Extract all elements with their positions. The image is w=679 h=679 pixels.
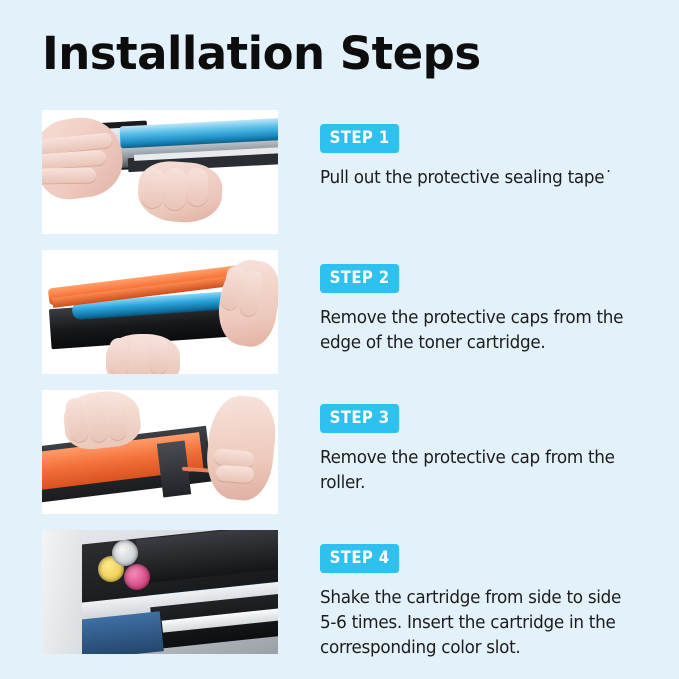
step-badge: STEP 1 (320, 124, 399, 153)
step-image-card (42, 110, 278, 234)
step-image-card (42, 250, 278, 374)
step-image-card (42, 390, 278, 514)
finger (42, 167, 96, 183)
step-text-column: STEP 4 Shake the cartridge from side to … (278, 530, 679, 661)
step-description: Remove the protective caps from the edge… (320, 306, 637, 356)
right-hand (203, 393, 278, 503)
step-badge: STEP 3 (320, 404, 399, 433)
step-badge: STEP 4 (320, 544, 399, 573)
step-text-column: STEP 1 Pull out the protective sealing t… (278, 110, 679, 191)
finger (215, 465, 254, 484)
step-4-photo (42, 530, 278, 654)
step-image-card (42, 530, 278, 654)
step-text-column: STEP 3 Remove the protective cap from th… (278, 390, 679, 496)
step-description: Remove the protective cap from the rolle… (320, 446, 637, 496)
step-description-text: Pull out the protective sealing tape (320, 168, 604, 188)
steps-list: STEP 1 Pull out the protective sealing t… (0, 110, 679, 677)
finger (163, 168, 186, 211)
step-row: STEP 1 Pull out the protective sealing t… (0, 110, 679, 234)
step-3-photo (42, 390, 278, 514)
trailing-punctuation: . (606, 158, 610, 176)
step-2-photo (42, 250, 278, 374)
step-text-column: STEP 2 Remove the protective caps from t… (278, 250, 679, 356)
step-row: STEP 2 Remove the protective caps from t… (0, 250, 679, 374)
step-description: Pull out the protective sealing tape. (320, 166, 637, 191)
installation-steps-page: Installation Steps (0, 0, 679, 679)
printer-side-panel (42, 530, 82, 654)
finger (109, 338, 128, 374)
finger (107, 398, 126, 441)
finger (141, 167, 166, 208)
step-badge: STEP 2 (320, 264, 399, 293)
page-title: Installation Steps (42, 26, 481, 82)
finger (130, 338, 148, 374)
finger (186, 168, 208, 206)
step-1-photo (42, 110, 278, 234)
step-row: STEP 3 Remove the protective cap from th… (0, 390, 679, 514)
finger (149, 338, 168, 374)
step-description: Shake the cartridge from side to side 5-… (320, 586, 637, 661)
step-row: STEP 4 Shake the cartridge from side to … (0, 530, 679, 661)
